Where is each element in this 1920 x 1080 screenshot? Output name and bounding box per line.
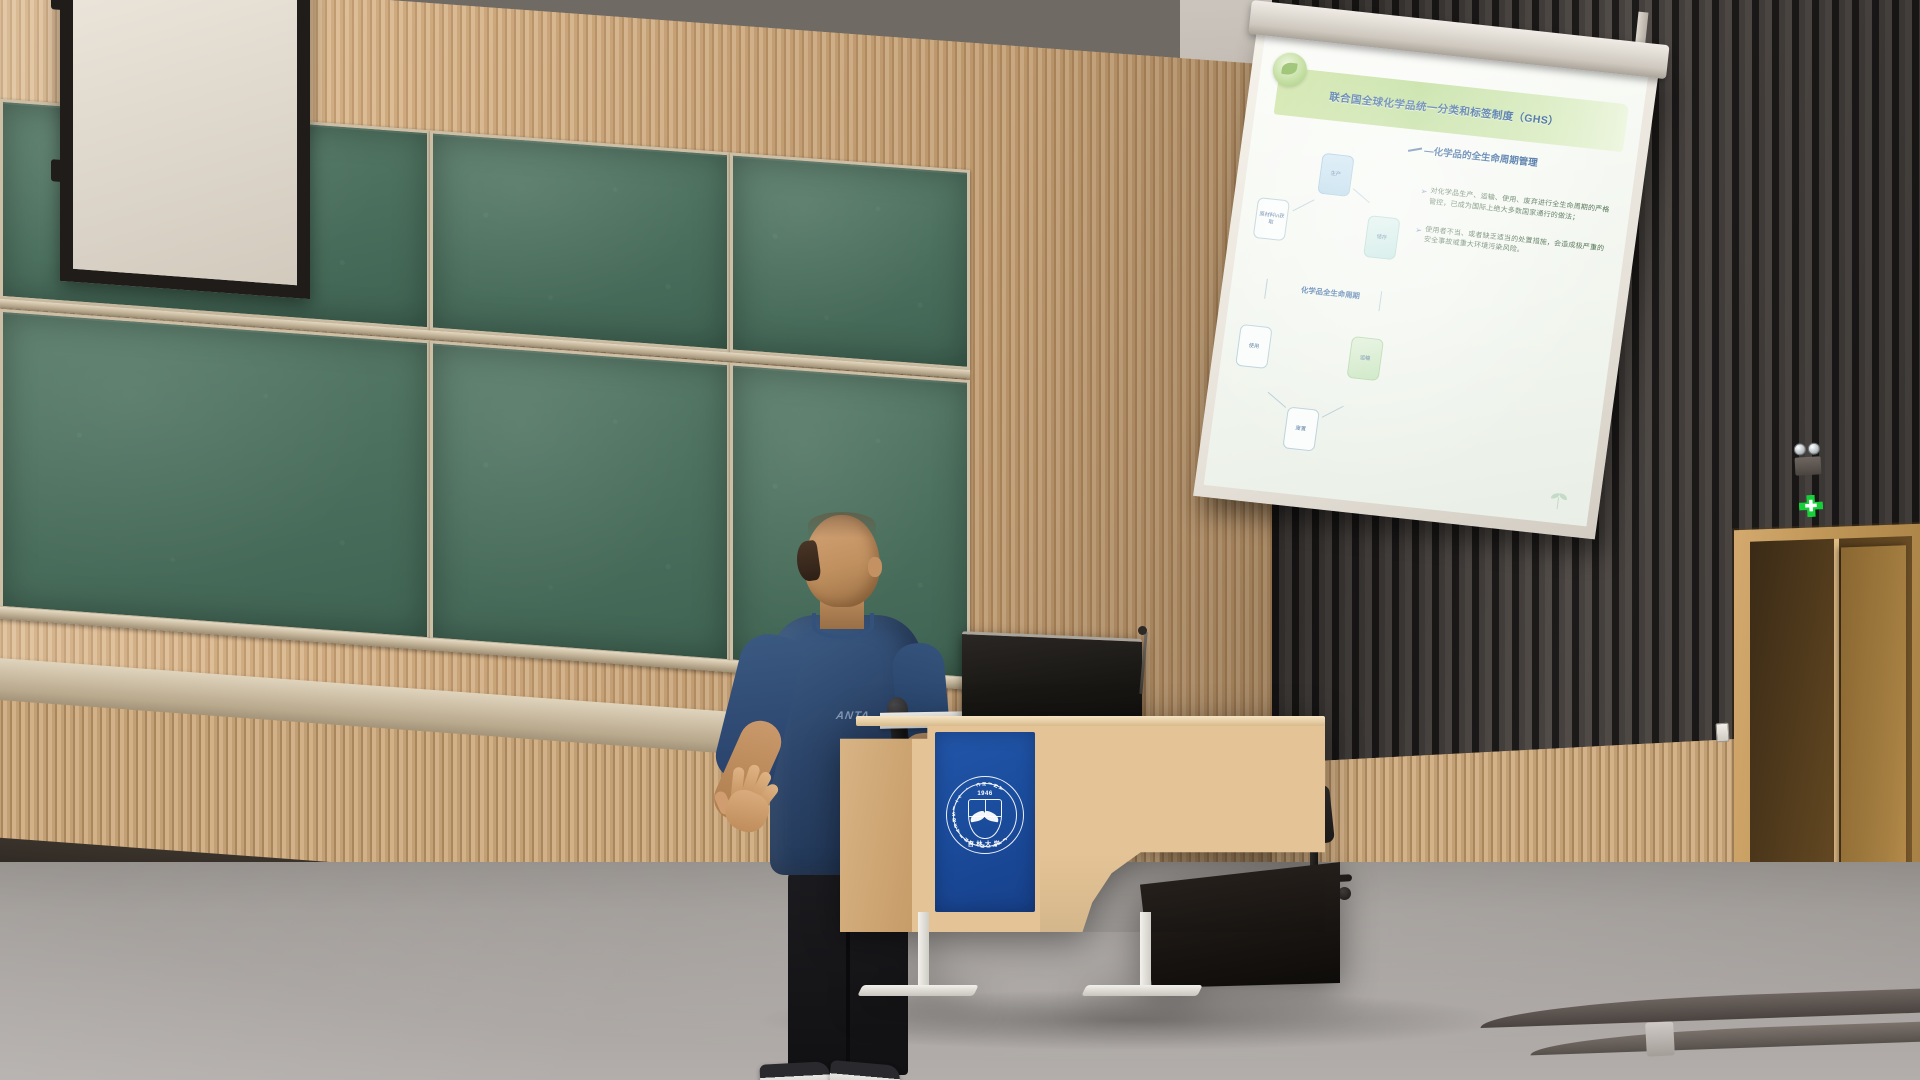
lifecycle-node-0: 原材料\n获取	[1253, 197, 1291, 242]
panel-bracket-bottom	[51, 159, 67, 182]
shirt-collar	[812, 613, 874, 639]
podium-left-face	[840, 739, 912, 932]
chalkboard-panel-top-right	[730, 152, 970, 370]
slide-title: 联合国全球化学品统一分类和标签制度（GHS）	[1328, 89, 1560, 129]
chalkboard-panel-bottom-left	[0, 309, 430, 641]
podium-top-lip	[856, 716, 1325, 726]
podium-foot-left	[857, 985, 978, 996]
university-emblem-panel: JILIN UNIVERSITY · CHINA 1946 吉林大学	[935, 732, 1035, 912]
slide-title-bar: 联合国全球化学品统一分类和标签制度（GHS）	[1274, 67, 1629, 152]
presentation-slide: 联合国全球化学品统一分类和标签制度（GHS） —化学品的全生命周期管理 原材料\…	[1204, 31, 1649, 527]
bullet-marker-icon: ➢	[1419, 186, 1429, 208]
panel-bracket-top	[51, 0, 67, 10]
slide-bullet-list: ➢ 对化学品生产、运输、使用、废弃进行全生命周期的严格管控，已成为国际上绝大多数…	[1411, 186, 1613, 283]
lifecycle-arrow-3	[1322, 406, 1344, 418]
bullet-marker-icon: ➢	[1413, 224, 1423, 246]
stage-step-block	[1645, 1021, 1675, 1056]
sprout-watermark-icon	[1549, 491, 1567, 511]
lifecycle-arrow-0	[1292, 200, 1314, 212]
emblem-chinese-name: 吉林大学	[968, 839, 1003, 848]
leaf-badge-icon	[1271, 51, 1309, 88]
light-switch[interactable]	[1716, 723, 1730, 743]
secondary-screen-surface	[73, 0, 297, 285]
lifecycle-node-3: 运输	[1346, 336, 1384, 381]
projection-screen[interactable]: 联合国全球化学品统一分类和标签制度（GHS） —化学品的全生命周期管理 原材料\…	[1193, 22, 1660, 539]
emblem-bird-icon	[970, 810, 1000, 824]
lifecycle-arrow-2	[1379, 291, 1383, 311]
bullet-text: 使用者不当、或者缺乏适当的处置措施，会造成极严重的安全事故或重大环境污染风险。	[1423, 225, 1608, 266]
lifecycle-node-2: 储存	[1363, 215, 1401, 260]
chalkboard-panel-top-center	[430, 130, 730, 352]
slide-bullet-item: ➢ 对化学品生产、运输、使用、废弃进行全生命周期的严格管控，已成为国际上绝大多数…	[1419, 186, 1613, 228]
slide-bullet-item: ➢ 使用者不当、或者缺乏适当的处置措施，会造成极严重的安全事故或重大环境污染风险…	[1413, 224, 1607, 266]
podium-dark-base	[1140, 862, 1340, 988]
lifecycle-node-1: 生产	[1317, 152, 1355, 197]
lifecycle-diagram: 原材料\n获取 生产 储存 运输 使用 废置 化学品全生命周期	[1218, 146, 1430, 482]
lifecycle-node-5: 废置	[1282, 406, 1320, 451]
speaker-hair-top	[808, 512, 876, 538]
podium-leg-right	[1140, 912, 1151, 990]
lifecycle-arrow-1	[1353, 188, 1370, 203]
lifecycle-node-4: 使用	[1235, 324, 1273, 369]
chalkboard-panel-bottom-center	[430, 340, 730, 662]
lectern-podium[interactable]: JILIN UNIVERSITY · CHINA 1946 吉林大学	[840, 722, 1325, 990]
speaker-shoe-left	[759, 1061, 830, 1080]
lifecycle-arrow-5	[1264, 278, 1268, 298]
gooseneck-microphone-head-icon	[1138, 626, 1147, 635]
lifecycle-arrow-4	[1267, 391, 1285, 407]
secondary-screen-panel[interactable]	[60, 0, 310, 299]
podium-leg-left	[918, 912, 929, 990]
slide-subtitle: —化学品的全生命周期管理	[1423, 143, 1538, 169]
emblem-founding-year: 1946	[977, 791, 992, 797]
emergency-light-body	[1795, 456, 1822, 475]
lifecycle-center-label: 化学品全生命周期	[1286, 284, 1375, 303]
bullet-text: 对化学品生产、运输、使用、废弃进行全生命周期的严格管控，已成为国际上绝大多数国家…	[1428, 187, 1613, 228]
podium-foot-right	[1081, 985, 1202, 996]
jilin-university-emblem-icon: JILIN UNIVERSITY · CHINA 1946 吉林大学	[946, 776, 1024, 854]
lecture-hall-scene: ✚ 联合国全球化学品统一分类和标签制度（GHS） —化学品的全生命周期管理 原材	[0, 0, 1920, 1080]
speaker-ear	[868, 557, 882, 577]
